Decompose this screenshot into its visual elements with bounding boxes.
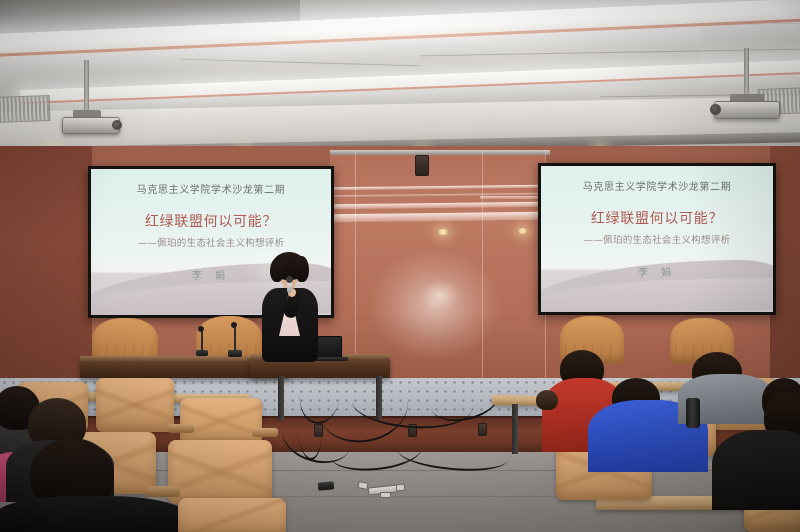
seat-seam [96,378,174,432]
presenter-hair [270,258,283,282]
wall-panel-left [0,146,92,382]
slide-content: 马克思主义学院学术沙龙第二期 红绿联盟何以可能？ ——佩珀的生态社会主义构想评析… [541,166,773,312]
audience-person-head [536,390,558,410]
projector-right [714,101,780,119]
slide-speaker-text: 李 娟 [541,264,773,279]
seat-armrest [146,486,180,497]
wall-glare [420,280,460,310]
wall-panel-seam [482,150,483,380]
slide-subtitle-text: ——佩珀的生态社会主义构想评析 [91,235,331,249]
desk-microphone-stand [201,330,203,351]
desk-microphone-base[interactable] [228,350,242,357]
microphone-icon [231,322,237,328]
wall-downlight [437,229,449,235]
desk-leg [278,376,284,420]
seat-seam [168,440,272,504]
projector-mount-pole [744,48,749,98]
slide-subtitle-text: ——佩珀的生态社会主义构想评析 [541,232,773,246]
presenter-hair [296,256,309,282]
slide-title-text: 红绿联盟何以可能？ [541,208,773,228]
audience-person-shoulders [712,430,800,510]
lecture-hall-photo: 马克思主义学院学术沙龙第二期 红绿联盟何以可能？ ——佩珀的生态社会主义构想评析… [0,0,800,532]
audience-seat[interactable] [96,378,174,432]
air-vent-grille [0,95,50,123]
power-plug [396,483,406,491]
projector-lens-icon [710,104,721,115]
projector-lens-icon [112,120,122,130]
desk-microphone-stand [234,326,236,351]
microphone-icon [198,326,204,332]
wall-downlight [517,228,528,234]
slide-header-text: 马克思主义学院学术沙龙第二期 [541,178,773,193]
ceiling-track-rail [330,150,550,155]
microphone-icon [286,276,293,283]
seat-armrest [168,424,194,433]
wall-panel-seam [355,150,356,380]
seat-seam [178,498,286,532]
audience-seat[interactable] [168,440,272,504]
thermos-bottle[interactable] [686,398,700,428]
slide-title-text: 红绿联盟何以可能？ [91,211,331,231]
projector-mount-pole [84,60,89,114]
right-projection-screen[interactable]: 马克思主义学院学术沙龙第二期 红绿联盟何以可能？ ——佩珀的生态社会主义构想评析… [538,163,776,315]
seat-seam [180,398,262,444]
floor-speaker [478,423,487,436]
audience-seat[interactable] [178,498,286,532]
seat-armrest [252,428,278,437]
audience-person-shoulders [0,496,186,532]
audience-seat[interactable] [180,398,262,444]
slide-header-text: 马克思主义学院学术沙龙第二期 [91,181,331,196]
floor-connector-box [318,481,335,490]
wall-speaker [415,155,429,176]
power-plug [380,492,391,498]
desk-leg [512,404,518,454]
